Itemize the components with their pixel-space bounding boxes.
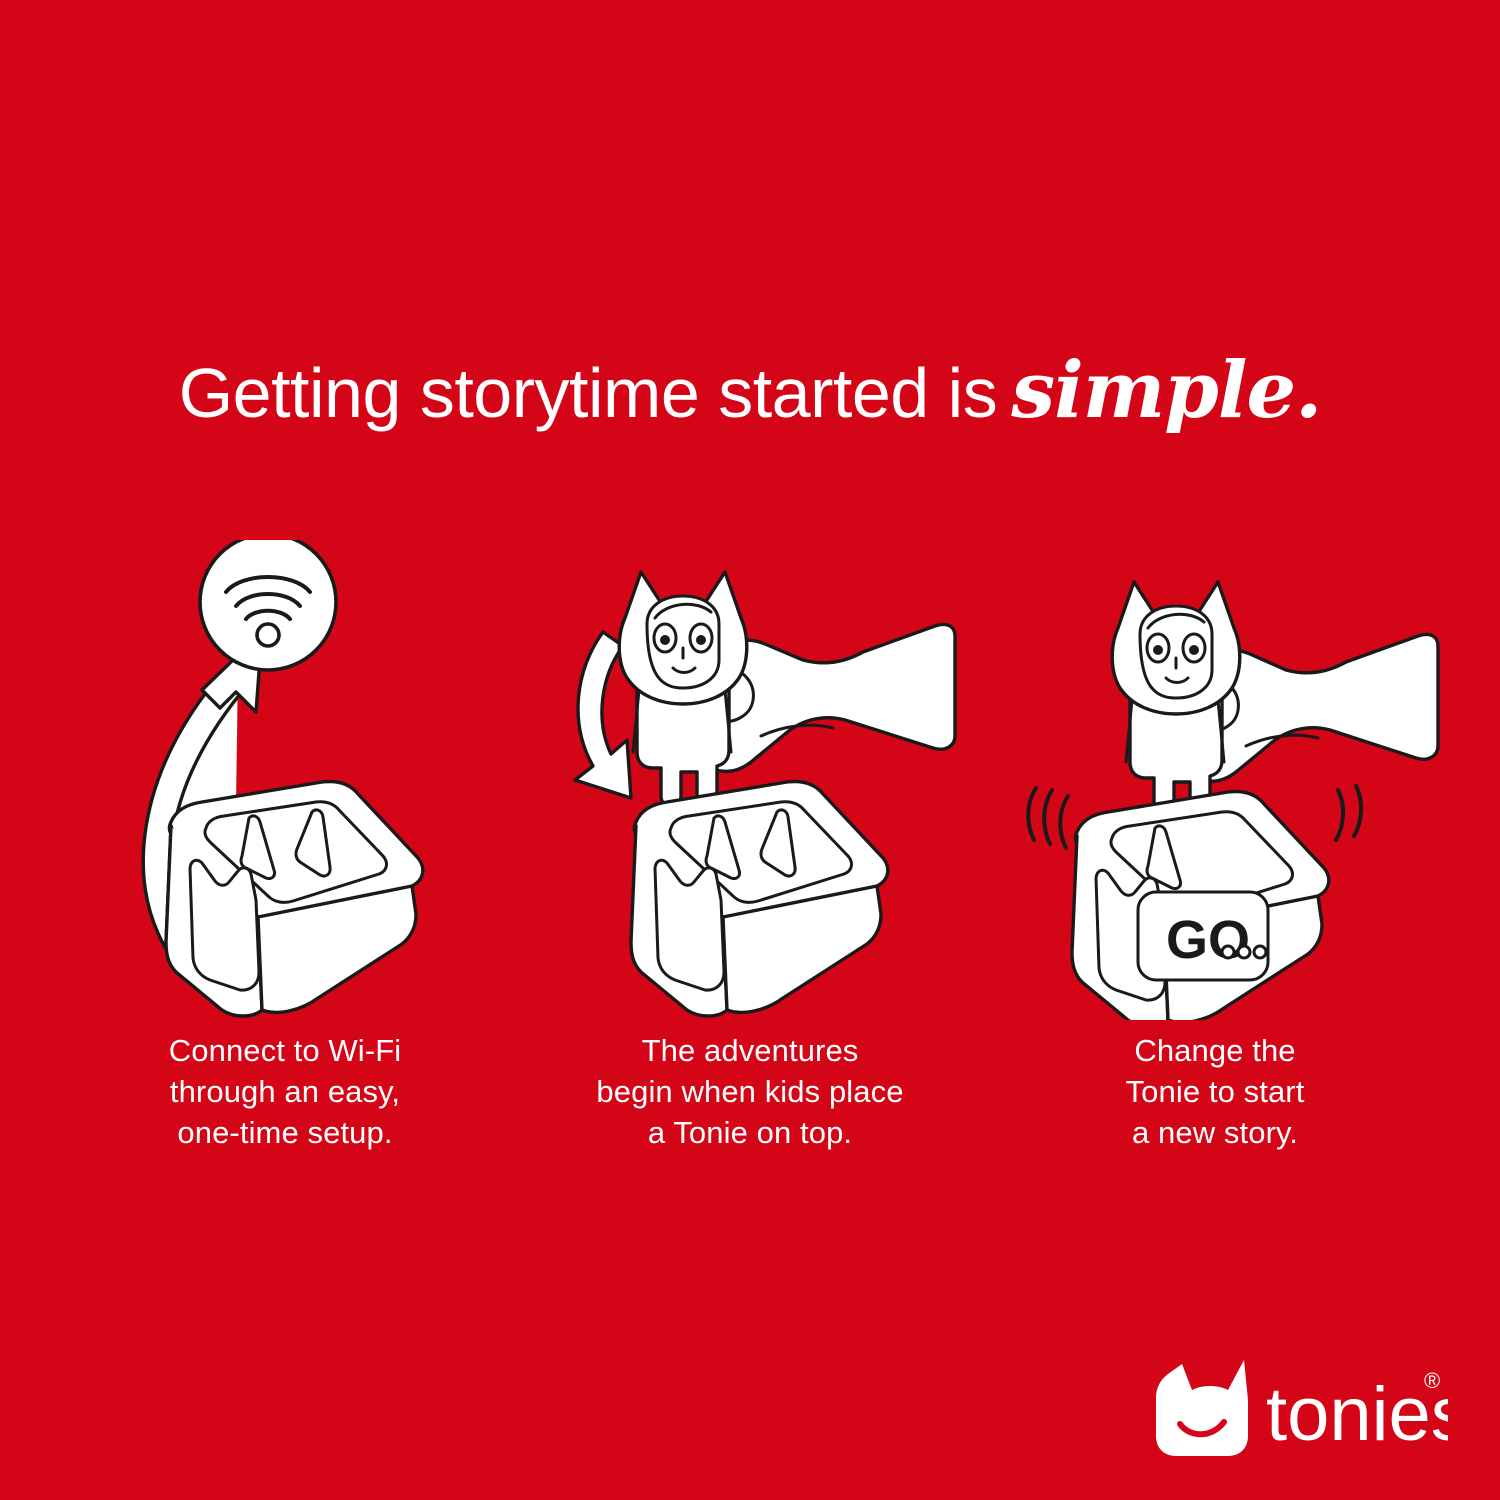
caption-change-tonie: Change the Tonie to start a new story. xyxy=(980,1030,1450,1154)
caption-wifi-setup: Connect to Wi-Fi through an easy, one-ti… xyxy=(50,1030,520,1154)
caption-line: The adventures xyxy=(515,1030,985,1071)
steps-row: Connect to Wi-Fi through an easy, one-ti… xyxy=(0,540,1500,1180)
caption-line: a Tonie on top. xyxy=(515,1112,985,1153)
step-panel-change-tonie: GO Change the Tonie to start a new story… xyxy=(980,540,1450,1180)
page-title: Getting storytime started issimple. xyxy=(0,352,1500,430)
caption-place-tonie: The adventures begin when kids place a T… xyxy=(515,1030,985,1154)
step-panel-wifi-setup: Connect to Wi-Fi through an easy, one-ti… xyxy=(50,540,520,1180)
illustration-wifi-setup xyxy=(50,540,520,1020)
caption-line: a new story. xyxy=(980,1112,1450,1153)
logo-wordmark: tonies xyxy=(1266,1372,1448,1457)
caption-line: Connect to Wi-Fi xyxy=(50,1030,520,1071)
caption-line: Tonie to start xyxy=(980,1071,1450,1112)
illustration-change-tonie: GO xyxy=(980,540,1450,1020)
tonies-logo: tonies ® xyxy=(1148,1352,1448,1462)
caption-line: begin when kids place xyxy=(515,1071,985,1112)
step-panel-place-tonie: The adventures begin when kids place a T… xyxy=(515,540,985,1180)
infographic-canvas: Getting storytime started issimple. xyxy=(0,0,1500,1500)
speech-bubble-text: GO xyxy=(1166,910,1250,970)
illustration-place-tonie xyxy=(515,540,985,1020)
tonies-cat-head-icon xyxy=(1156,1360,1248,1456)
caption-line: one-time setup. xyxy=(50,1112,520,1153)
logo-trademark: ® xyxy=(1424,1368,1440,1393)
caption-line: Change the xyxy=(980,1030,1450,1071)
headline-main-text: Getting storytime started is xyxy=(179,354,998,432)
headline-accent-text: simple. xyxy=(1011,345,1321,436)
caption-line: through an easy, xyxy=(50,1071,520,1112)
